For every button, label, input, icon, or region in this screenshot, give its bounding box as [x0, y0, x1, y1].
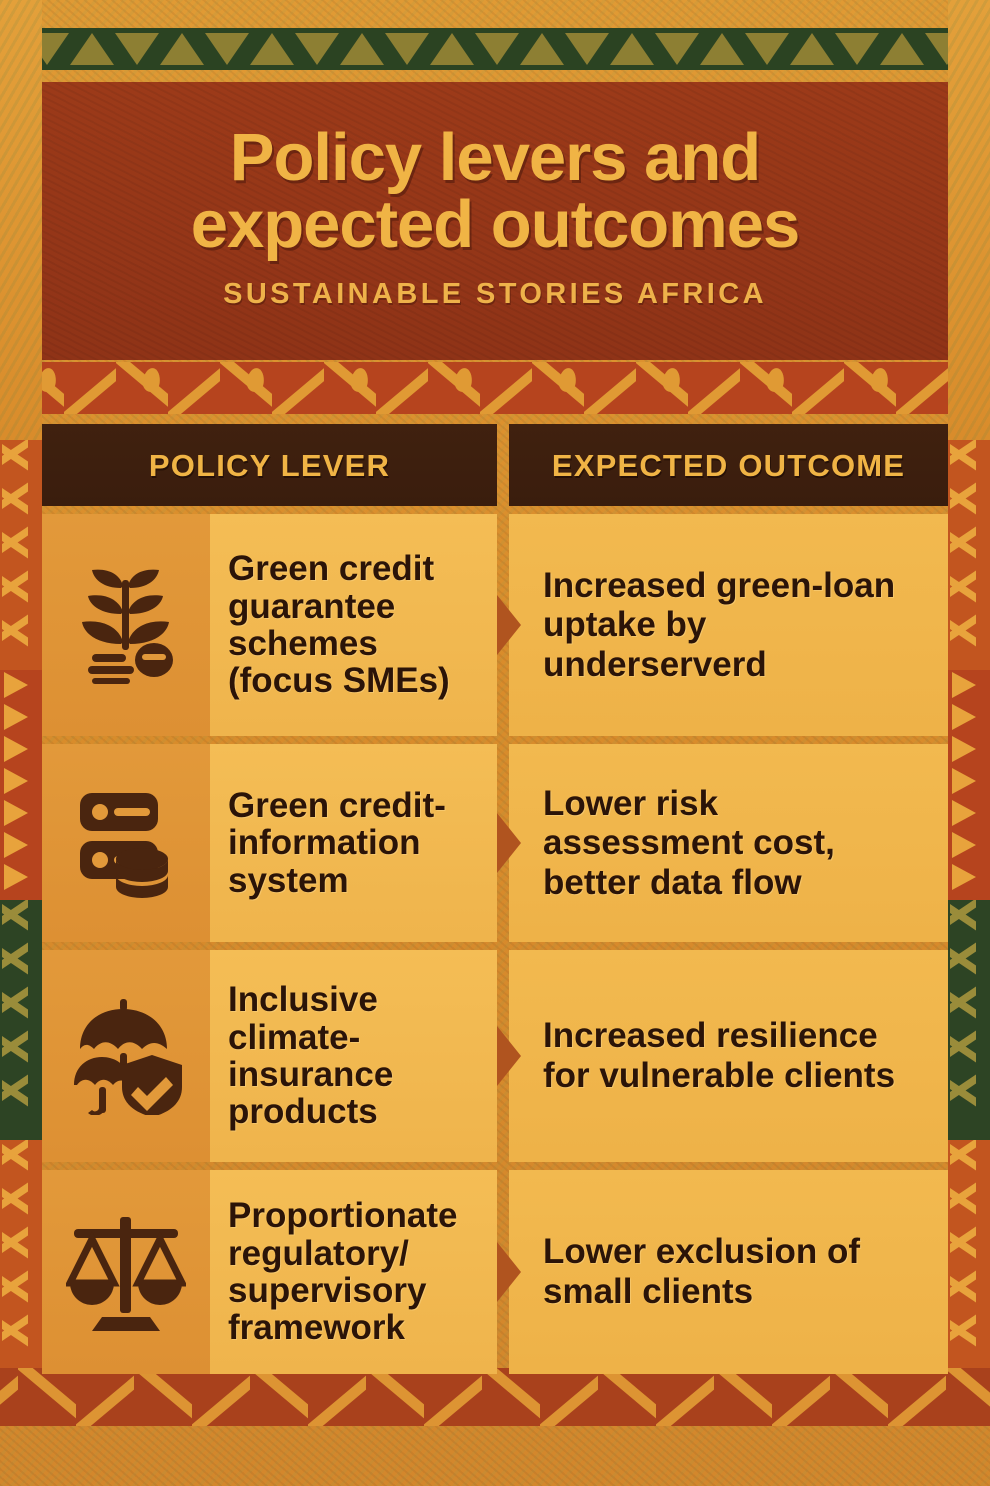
row-arrow-icon: [497, 813, 521, 873]
expected-outcome-text: Lower exclusion of small clients: [543, 1232, 926, 1311]
left-border-pattern: [0, 0, 42, 1486]
policy-table: POLICY LEVER EXPECTED OUTCOME: [42, 424, 948, 1374]
expected-outcome-cell: Lower exclusion of small clients: [509, 1170, 948, 1374]
column-header-policy-lever: POLICY LEVER: [42, 424, 497, 506]
umbrella-shield-check-icon: [42, 950, 210, 1162]
page-subtitle: SUSTAINABLE STORIES AFRICA: [223, 278, 767, 311]
policy-lever-text: Proportionate regulatory/ supervisory fr…: [210, 1170, 497, 1374]
policy-lever-cell: Inclusive climate-insurance products: [42, 950, 497, 1162]
table-row: Proportionate regulatory/ supervisory fr…: [42, 1170, 948, 1374]
expected-outcome-text: Lower risk assessment cost, better data …: [543, 784, 926, 903]
table-header-row: POLICY LEVER EXPECTED OUTCOME: [42, 424, 948, 506]
policy-lever-text: Inclusive climate-insurance products: [210, 950, 497, 1162]
table-row: Green credit-information system Lower ri…: [42, 744, 948, 942]
expected-outcome-text: Increased green-loan uptake by underserv…: [543, 566, 926, 685]
page-title: Policy levers and expected outcomes: [191, 125, 800, 258]
policy-lever-cell: Proportionate regulatory/ supervisory fr…: [42, 1170, 497, 1374]
page-title-line1: Policy levers and: [191, 125, 800, 191]
policy-lever-text: Green credit guarantee schemes (focus SM…: [210, 514, 497, 736]
column-header-expected-outcome: EXPECTED OUTCOME: [509, 424, 948, 506]
row-arrow-icon: [497, 1242, 521, 1302]
expected-outcome-cell: Increased green-loan uptake by underserv…: [509, 514, 948, 736]
bottom-border-zigzag-band: [0, 1368, 990, 1426]
expected-outcome-cell: Lower risk assessment cost, better data …: [509, 744, 948, 942]
mid-border-zigzag-band: [0, 362, 990, 414]
policy-lever-cell: Green credit-information system: [42, 744, 497, 942]
expected-outcome-text: Increased resilience for vulnerable clie…: [543, 1016, 926, 1095]
page-title-line2: expected outcomes: [191, 192, 800, 258]
expected-outcome-cell: Increased resilience for vulnerable clie…: [509, 950, 948, 1162]
row-arrow-icon: [497, 595, 521, 655]
policy-lever-text: Green credit-information system: [210, 744, 497, 942]
table-row: Green credit guarantee schemes (focus SM…: [42, 514, 948, 736]
server-database-coins-icon: [42, 744, 210, 942]
scales-of-justice-icon: [42, 1170, 210, 1374]
title-banner: Policy levers and expected outcomes SUST…: [42, 82, 948, 360]
plant-growth-coins-icon: [42, 514, 210, 736]
row-arrow-icon: [497, 1026, 521, 1086]
top-border-triangle-band: [0, 28, 990, 70]
policy-lever-cell: Green credit guarantee schemes (focus SM…: [42, 514, 497, 736]
table-row: Inclusive climate-insurance products Inc…: [42, 950, 948, 1162]
right-border-pattern: [948, 0, 990, 1486]
infographic-poster: Policy levers and expected outcomes SUST…: [0, 0, 990, 1486]
